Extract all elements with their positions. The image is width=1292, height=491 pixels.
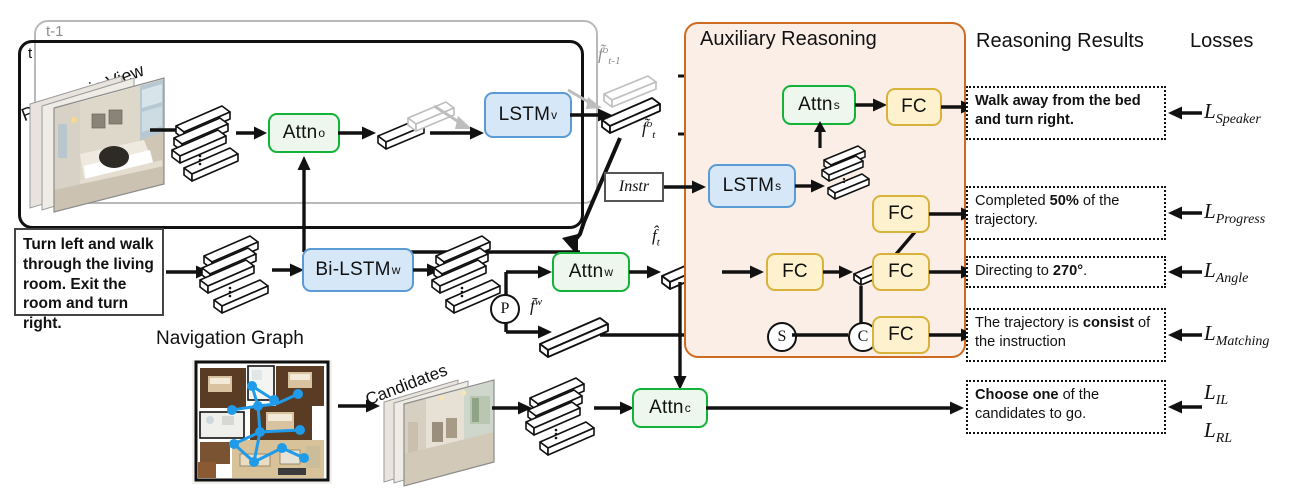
arrow-loss-progress [1168,205,1202,221]
module-lstm-v-subscript: v [551,108,557,122]
arrow-loss-matching [1168,327,1202,343]
arrow-attnc-to-action-result [706,400,966,416]
module-attn-w-label: Attn [569,261,604,283]
arrow-loss-speaker [1168,105,1202,121]
arrow-to-lstmv [430,125,486,141]
module-attn-w-subscript: w [604,265,613,279]
feature-label-ftilde-current: f̃ot [642,118,655,141]
result-box-action: Choose one of the candidates to go. [966,380,1166,434]
module-bilstm-w[interactable]: Bi-LSTMw [302,248,414,292]
module-bilstm-w-label: Bi-LSTM [315,259,390,281]
arrow-to-bilstm [272,262,306,278]
module-lstm-v[interactable]: LSTMv [484,92,572,138]
result-box-angle: Directing to 270°. [966,256,1166,288]
loss-sub-angle: Angle [1216,271,1249,286]
loss-base-rl: L [1204,418,1216,442]
module-fc-progress[interactable]: FC [872,195,930,233]
result-text-action: Choose one of the candidates to go. [975,387,1099,422]
module-attn-c-subscript: c [685,401,691,415]
module-attn-o[interactable]: Attno [268,113,340,153]
loss-label-rl: LRL [1204,418,1232,447]
module-bilstm-w-subscript: w [392,263,401,277]
arrow-loss-action [1168,399,1202,415]
loss-base-matching: L [1204,321,1216,345]
module-fc-angle[interactable]: FC [872,253,930,291]
result-box-speaker: Walk away from the bed and turn right. [966,86,1166,140]
loss-base-progress: L [1204,199,1216,223]
loss-label-speaker: LSpeaker [1204,99,1261,128]
loss-label-progress: LProgress [1204,199,1265,228]
module-fc-angle-label: FC [888,261,914,283]
module-fc-shared[interactable]: FC [766,253,824,291]
loss-label-il: LIL [1204,380,1228,409]
arrow-fhat-to-fc-shared [722,264,766,280]
reasoning-results-heading: Reasoning Results [976,30,1144,53]
arrow-instr-to-lstms [664,179,708,195]
result-box-matching: The trajectory is consist of the instruc… [966,308,1166,362]
loss-base-speaker: L [1204,99,1216,123]
module-fc-progress-label: FC [888,203,914,225]
instr-token-box: Instr [604,172,664,202]
navigation-graph-caption: Navigation Graph [156,328,304,350]
instruction-text-box: Turn left and walk through the living ro… [14,228,164,316]
result-text-matching: The trajectory is consist of the instruc… [975,315,1150,350]
navigation-graph-image [188,358,336,486]
loss-base-angle: L [1204,258,1216,282]
feature-label-fhat: f̂t [652,226,660,248]
loss-sub-rl: RL [1216,431,1232,446]
module-fc-shared-label: FC [782,261,808,283]
line-sum-to-concat [792,330,850,340]
pool-operator-label: P [501,300,510,318]
module-attn-s-label: Attn [798,94,833,116]
loss-sub-speaker: Speaker [1216,112,1261,127]
module-lstm-s-label: LSTM [723,175,774,197]
arrow-features-to-attno [236,125,270,141]
pool-operator: P [490,294,520,324]
result-text-angle: Directing to 270°. [975,263,1087,279]
module-attn-s-subscript: s [834,98,840,112]
module-fc-speaker[interactable]: FC [886,88,942,126]
timestep-label-previous: t-1 [46,23,64,40]
module-fc-matching[interactable]: FC [872,316,930,354]
instr-token-label: Instr [619,178,649,196]
result-box-progress: Completed 50% of the trajectory. [966,186,1166,240]
arrow-hidden-to-attns [810,120,830,150]
loss-sub-progress: Progress [1216,212,1266,227]
instruction-text: Turn left and walk through the living ro… [23,236,154,332]
candidate-feature-bars [522,368,612,464]
loss-sub-il: IL [1216,393,1228,408]
result-text-speaker: Walk away from the bed and turn right. [975,93,1141,128]
loss-label-matching: LMatching [1204,321,1269,350]
loss-label-angle: LAngle [1204,258,1248,287]
module-lstm-s[interactable]: LSTMs [708,164,796,208]
module-attn-c[interactable]: Attnc [632,388,708,428]
module-attn-s[interactable]: Attns [782,85,856,125]
module-attn-o-label: Attn [283,122,318,144]
module-attn-w[interactable]: Attnw [552,252,630,292]
losses-heading: Losses [1190,30,1253,53]
concat-operator-label: C [858,328,869,346]
module-lstm-v-label: LSTM [499,104,550,126]
module-attn-c-label: Attn [649,397,684,419]
ftilde-current-bar [598,92,670,144]
arrow-attns-to-fc-speaker [855,97,889,113]
timestep-label-current: t [28,45,32,62]
arrow-loss-angle [1168,264,1202,280]
arrow-to-attnc [594,400,636,416]
line-sharedbar-down-to-concat [854,286,870,326]
loss-base-il: L [1204,380,1216,404]
feature-label-ftilde-prev: f̃ot-1 [598,44,620,67]
result-text-progress: Completed 50% of the trajectory. [975,193,1119,228]
module-lstm-s-subscript: s [775,179,781,193]
module-fc-matching-label: FC [888,324,914,346]
loss-sub-matching: Matching [1216,334,1270,349]
module-fc-speaker-label: FC [901,96,927,118]
arrow-attno-to-bar [338,125,378,141]
module-attn-o-subscript: o [318,126,325,140]
auxiliary-reasoning-title: Auxiliary Reasoning [700,28,877,51]
candidates-image [378,368,506,486]
sum-operator-label: S [778,328,787,346]
